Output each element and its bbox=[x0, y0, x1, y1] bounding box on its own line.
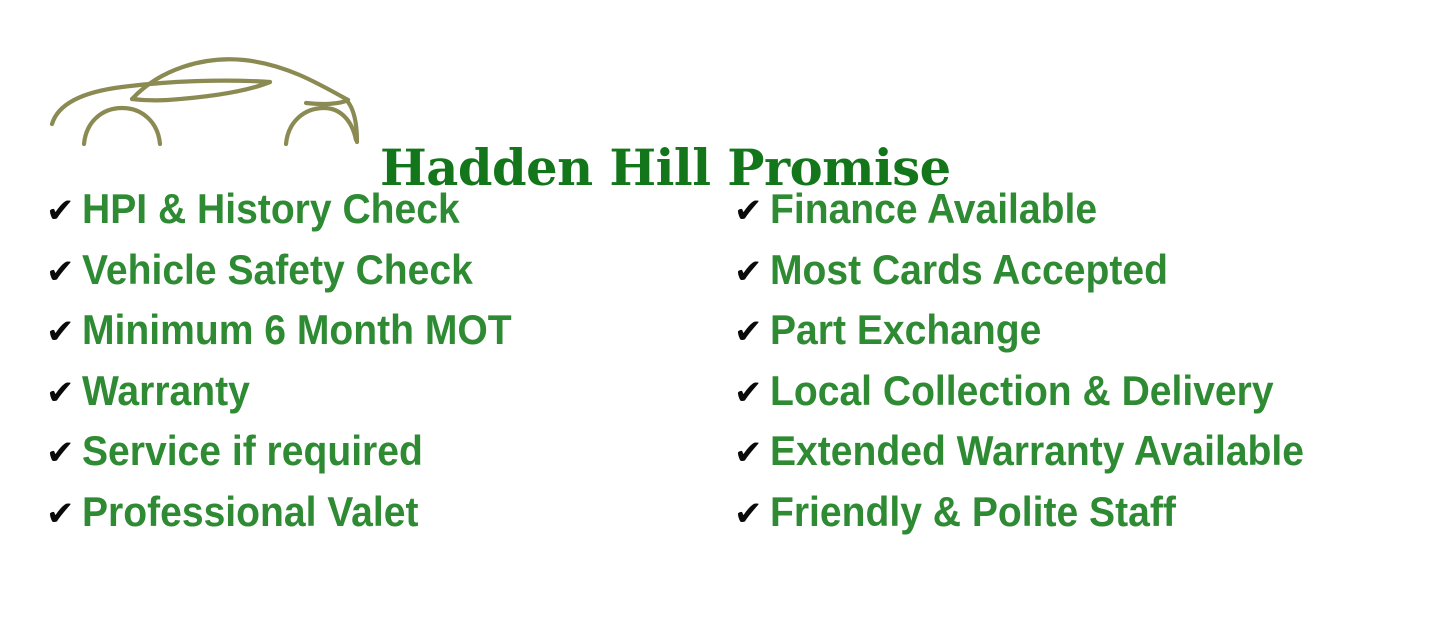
promise-column-right: ✔ Finance Available ✔ Most Cards Accepte… bbox=[734, 186, 1434, 549]
promise-list-left: ✔ HPI & History Check ✔ Vehicle Safety C… bbox=[46, 186, 706, 549]
check-icon: ✔ bbox=[46, 497, 82, 531]
check-icon: ✔ bbox=[46, 436, 82, 470]
promise-label: Finance Available bbox=[770, 186, 1097, 232]
hadden-hill-promise-banner: Hadden Hill Promise ✔ HPI & History Chec… bbox=[0, 0, 1440, 638]
list-item: ✔ Extended Warranty Available bbox=[734, 428, 1434, 489]
check-icon: ✔ bbox=[734, 255, 770, 289]
list-item: ✔ Service if required bbox=[46, 428, 706, 489]
promise-label: HPI & History Check bbox=[82, 186, 460, 232]
check-icon: ✔ bbox=[46, 194, 82, 228]
promise-label: Friendly & Polite Staff bbox=[770, 489, 1176, 535]
check-icon: ✔ bbox=[46, 376, 82, 410]
list-item: ✔ Finance Available bbox=[734, 186, 1434, 247]
check-icon: ✔ bbox=[734, 436, 770, 470]
list-item: ✔ Most Cards Accepted bbox=[734, 247, 1434, 308]
promise-label: Extended Warranty Available bbox=[770, 428, 1304, 474]
list-item: ✔ Vehicle Safety Check bbox=[46, 247, 706, 308]
promise-label: Vehicle Safety Check bbox=[82, 247, 473, 293]
promise-list-right: ✔ Finance Available ✔ Most Cards Accepte… bbox=[734, 186, 1434, 549]
promise-label: Warranty bbox=[82, 368, 250, 414]
car-outline-icon bbox=[48, 52, 360, 152]
promise-columns: ✔ HPI & History Check ✔ Vehicle Safety C… bbox=[0, 186, 1440, 556]
list-item: ✔ Friendly & Polite Staff bbox=[734, 489, 1434, 550]
check-icon: ✔ bbox=[46, 255, 82, 289]
list-item: ✔ HPI & History Check bbox=[46, 186, 706, 247]
promise-label: Most Cards Accepted bbox=[770, 247, 1168, 293]
list-item: ✔ Part Exchange bbox=[734, 307, 1434, 368]
banner-header: Hadden Hill Promise bbox=[0, 46, 1440, 158]
promise-label: Service if required bbox=[82, 428, 423, 474]
promise-label: Minimum 6 Month MOT bbox=[82, 307, 512, 353]
list-item: ✔ Professional Valet bbox=[46, 489, 706, 550]
promise-column-left: ✔ HPI & History Check ✔ Vehicle Safety C… bbox=[46, 186, 706, 549]
check-icon: ✔ bbox=[46, 315, 82, 349]
list-item: ✔ Warranty bbox=[46, 368, 706, 429]
check-icon: ✔ bbox=[734, 315, 770, 349]
check-icon: ✔ bbox=[734, 376, 770, 410]
check-icon: ✔ bbox=[734, 497, 770, 531]
promise-label: Local Collection & Delivery bbox=[770, 368, 1274, 414]
list-item: ✔ Local Collection & Delivery bbox=[734, 368, 1434, 429]
promise-label: Professional Valet bbox=[82, 489, 419, 535]
promise-label: Part Exchange bbox=[770, 307, 1041, 353]
list-item: ✔ Minimum 6 Month MOT bbox=[46, 307, 706, 368]
check-icon: ✔ bbox=[734, 194, 770, 228]
